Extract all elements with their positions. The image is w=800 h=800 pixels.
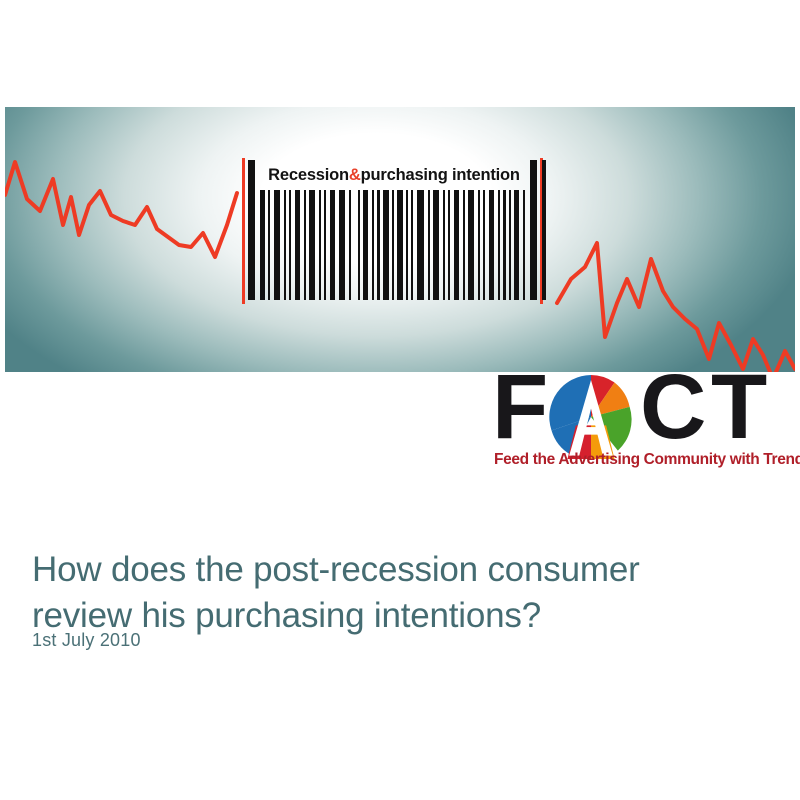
logo-letter-f: F xyxy=(492,367,545,447)
barcode-label-ampersand: & xyxy=(349,166,361,185)
barcode-label-prefix: Recession xyxy=(268,166,349,185)
recession-banner: Recession & purchasing intention xyxy=(5,107,795,372)
barcode-bars xyxy=(260,190,528,300)
page-title-line-2: review his purchasing intentions? xyxy=(32,593,772,639)
logo-letter-c: C xyxy=(640,367,703,447)
logo-pie-a-icon xyxy=(549,375,633,459)
fact-logo: F C T Feed the Advertising Community wit… xyxy=(492,371,792,475)
page-title-line-1: How does the post-recession consumer xyxy=(32,550,640,589)
barcode-graphic: Recession & purchasing intention xyxy=(240,160,550,300)
barcode-guard-right-2 xyxy=(542,160,546,300)
fact-wordmark: F C T xyxy=(492,371,792,451)
barcode-guard-left xyxy=(248,160,255,300)
letter-a-crossbar xyxy=(579,427,603,435)
trend-line-right xyxy=(557,243,795,372)
barcode-red-line-left xyxy=(242,158,245,304)
barcode-label: Recession & purchasing intention xyxy=(260,162,528,188)
page-title: How does the post-recession consumer rev… xyxy=(32,547,772,639)
barcode-label-suffix: purchasing intention xyxy=(361,166,520,185)
presentation-date: 1st July 2010 xyxy=(32,630,141,651)
logo-tagline: Feed the Advertising Community with Tren… xyxy=(494,451,792,469)
logo-letter-t: T xyxy=(711,367,764,447)
barcode-guard-right-1 xyxy=(530,160,537,300)
trend-line-left xyxy=(5,162,237,257)
